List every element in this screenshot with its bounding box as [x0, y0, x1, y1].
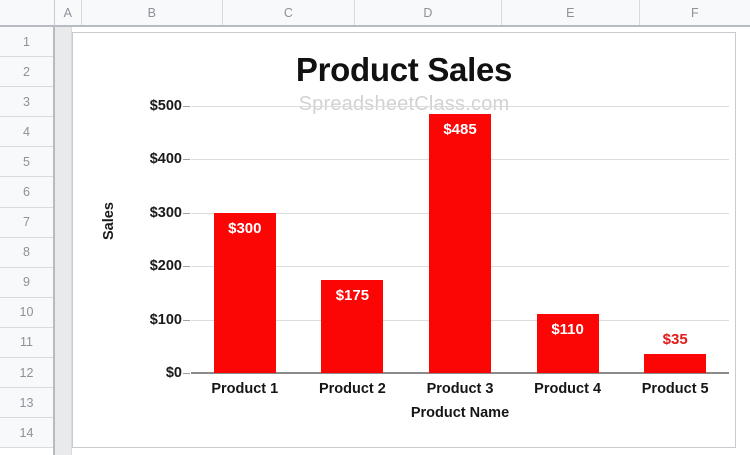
bar-value-label: $175	[321, 287, 383, 304]
row-header-label: 9	[23, 275, 30, 289]
y-axis-tick-mark	[183, 373, 190, 374]
row-header-label: 13	[20, 396, 34, 410]
row-header-2[interactable]: 2	[0, 57, 53, 87]
bar-chart[interactable]: Product Sales SpreadsheetClass.com Sales…	[72, 32, 736, 448]
row-header-14[interactable]: 14	[0, 418, 53, 448]
row-header-label: 5	[23, 155, 30, 169]
y-axis-tick-label: $400	[150, 151, 182, 167]
row-header-label: 7	[23, 215, 30, 229]
column-header-row: A B C D E F	[55, 0, 750, 27]
column-header-f-label: F	[691, 6, 699, 20]
row-header-1[interactable]: 1	[0, 27, 53, 57]
bar-group[interactable]: $485Product 3	[429, 106, 491, 373]
select-all-corner[interactable]	[0, 0, 55, 27]
row-header-9[interactable]: 9	[0, 268, 53, 298]
bar-value-label: $110	[537, 321, 599, 338]
column-header-e[interactable]: E	[502, 0, 640, 25]
column-header-e-label: E	[566, 6, 575, 20]
y-axis-tick-label: $0	[166, 365, 182, 381]
row-header-label: 1	[23, 35, 30, 49]
column-header-a-label: A	[64, 6, 73, 20]
y-axis-tick-label: $100	[150, 312, 182, 328]
bar[interactable]	[429, 114, 491, 373]
row-header-label: 8	[23, 245, 30, 259]
y-axis-tick-label: $200	[150, 258, 182, 274]
row-header-column: 1234567891011121314	[0, 27, 55, 455]
row-header-8[interactable]: 8	[0, 238, 53, 268]
row-header-11[interactable]: 11	[0, 328, 53, 358]
row-header-label: 6	[23, 185, 30, 199]
column-header-c[interactable]: C	[223, 0, 355, 25]
y-axis-tick-mark	[183, 106, 190, 107]
bar[interactable]	[644, 354, 706, 373]
y-axis-tick-label: $500	[150, 98, 182, 114]
bar-group[interactable]: $110Product 4	[537, 106, 599, 373]
row-header-7[interactable]: 7	[0, 208, 53, 238]
row-header-12[interactable]: 12	[0, 358, 53, 388]
column-header-a[interactable]: A	[55, 0, 82, 25]
bar-group[interactable]: $35Product 5	[644, 106, 706, 373]
column-header-b-label: B	[148, 6, 157, 20]
x-axis-category-label: Product 2	[299, 381, 405, 397]
x-axis-category-label: Product 5	[622, 381, 728, 397]
column-a-cells[interactable]	[55, 27, 72, 455]
bar-group[interactable]: $300Product 1	[214, 106, 276, 373]
row-header-label: 3	[23, 95, 30, 109]
bar-value-label: $35	[644, 331, 706, 348]
row-header-10[interactable]: 10	[0, 298, 53, 328]
x-axis-category-label: Product 4	[515, 381, 621, 397]
y-axis-tick-mark	[183, 159, 190, 160]
column-header-c-label: C	[284, 6, 293, 20]
y-axis-title: Sales	[101, 202, 117, 240]
row-header-label: 10	[20, 305, 34, 319]
row-header-6[interactable]: 6	[0, 177, 53, 207]
row-header-3[interactable]: 3	[0, 87, 53, 117]
row-header-label: 2	[23, 65, 30, 79]
row-header-5[interactable]: 5	[0, 147, 53, 177]
column-header-d[interactable]: D	[355, 0, 502, 25]
column-header-f[interactable]: F	[640, 0, 750, 25]
bar[interactable]	[214, 213, 276, 373]
row-header-label: 11	[20, 335, 33, 349]
y-axis-tick-label: $300	[150, 205, 182, 221]
row-header-label: 4	[23, 125, 30, 139]
column-header-b[interactable]: B	[82, 0, 223, 25]
row-header-13[interactable]: 13	[0, 388, 53, 418]
column-header-d-label: D	[423, 6, 432, 20]
x-axis-category-label: Product 3	[407, 381, 513, 397]
plot-area: $0$100$200$300$400$500$300Product 1$175P…	[191, 106, 729, 373]
bar-value-label: $485	[429, 121, 491, 138]
row-header-label: 12	[20, 366, 34, 380]
y-axis-tick-mark	[183, 266, 190, 267]
bar-group[interactable]: $175Product 2	[321, 106, 383, 373]
chart-title: Product Sales	[73, 51, 735, 89]
bar-value-label: $300	[214, 220, 276, 237]
row-header-label: 14	[20, 426, 34, 440]
y-axis-tick-mark	[183, 213, 190, 214]
row-header-4[interactable]: 4	[0, 117, 53, 147]
x-axis-category-label: Product 1	[192, 381, 298, 397]
spreadsheet-app: A B C D E F 1234567891011121314 Product …	[0, 0, 750, 455]
x-axis-title: Product Name	[191, 405, 729, 421]
y-axis-tick-mark	[183, 320, 190, 321]
